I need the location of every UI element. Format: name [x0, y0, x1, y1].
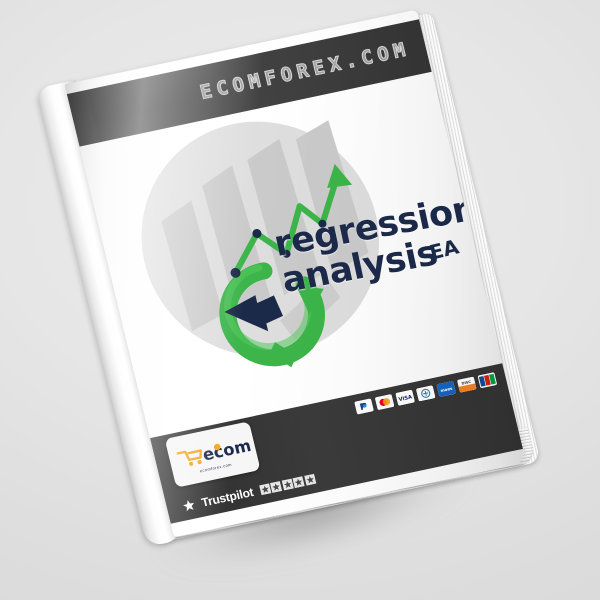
trustpilot-label: Trustpilot — [200, 485, 255, 510]
amex-icon — [416, 385, 436, 401]
top-brand-band: ECOMFOREX.COM — [67, 19, 432, 146]
title-suffix-ea: EA — [428, 237, 461, 262]
visa-icon: VISA — [395, 390, 415, 406]
trustpilot-star-icon — [182, 498, 197, 512]
brand-name-text: ECOMFOREX.COM — [198, 38, 412, 104]
ecom-logo-badge: ecom ecomforex.com — [165, 421, 261, 487]
band-shadow-blotch — [86, 59, 245, 143]
discover-icon: DISC — [457, 377, 477, 393]
rating-star-1 — [259, 483, 271, 495]
svg-text:ecom: ecom — [201, 435, 252, 464]
book-product-mockup: ECOMFOREX.COM — [41, 8, 535, 546]
product-mockup-scene: ECOMFOREX.COM — [0, 0, 600, 600]
jcb-icon — [478, 372, 498, 388]
maestro-icon: maes — [436, 381, 456, 397]
trustpilot-star-rating — [259, 474, 316, 495]
mastercard-icon — [375, 394, 395, 410]
paypal-icon — [354, 398, 374, 414]
rating-star-3 — [281, 479, 293, 491]
rating-star-4 — [293, 476, 305, 488]
rating-star-5 — [304, 474, 316, 486]
rating-star-2 — [270, 481, 282, 493]
